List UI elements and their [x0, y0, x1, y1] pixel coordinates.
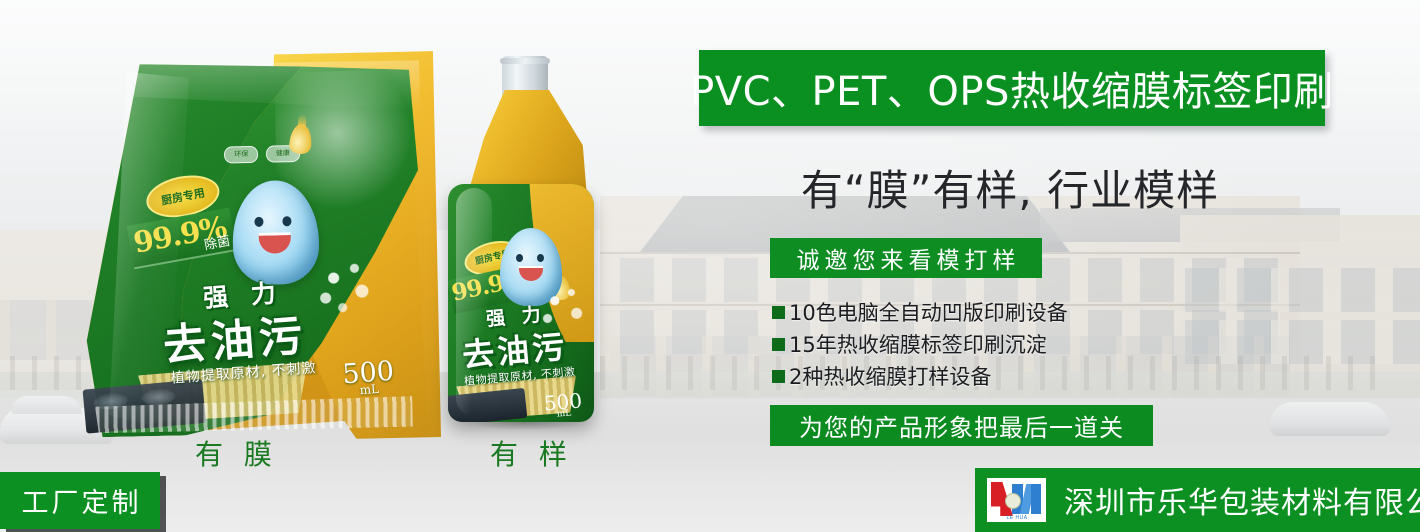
list-item-label: 15年热收缩膜标签印刷沉淀: [789, 329, 1047, 359]
company-footer-bar: LE HUA 深圳市乐华包装材料有限公司: [975, 468, 1420, 532]
mascot-eye-left: [516, 254, 523, 262]
bottle-volume: 500 mL: [543, 388, 584, 420]
square-bullet-icon: [772, 306, 785, 319]
list-item: 15年热收缩膜标签印刷沉淀: [772, 329, 1192, 359]
bottle-body: 厨房专用 99.9% 除菌 强 力 去油污 植物提取原材, 不刺激 500 mL: [448, 184, 594, 422]
mascot-mouth: [259, 232, 291, 254]
mascot-eye-right: [283, 216, 292, 226]
product-bottle: 厨房专用 99.9% 除菌 强 力 去油污 植物提取原材, 不刺激 500 mL: [440, 56, 600, 424]
pouch-tag-eco: 环保: [224, 146, 258, 164]
invite-banner-text: 诚邀您来看模打样: [792, 241, 1021, 275]
caption-bottle: 有 样: [490, 433, 573, 473]
company-name: 深圳市乐华包装材料有限公司: [1064, 478, 1420, 522]
list-item-label: 10色电脑全自动凹版印刷设备: [789, 297, 1068, 327]
bottle-gloss-highlight: [456, 188, 492, 416]
top-green-banner: PVC、PET、OPS热收缩膜标签印刷: [699, 50, 1325, 126]
mascot-eye-left: [255, 217, 264, 227]
factory-custom-badge: 工厂定制: [0, 472, 160, 529]
closing-banner-text: 为您的产品形象把最后一道关: [799, 408, 1124, 443]
list-item-label: 2种热收缩膜打样设备: [789, 361, 991, 391]
company-logo-icon: LE HUA: [987, 478, 1046, 522]
caption-pouch: 有 膜: [195, 433, 278, 473]
square-bullet-icon: [772, 338, 785, 351]
mascot-mouth: [519, 266, 543, 281]
banner-stage: 环保 健康 厨房专用 99.9% 除菌 强 力 去油污 植物提取原材, 不刺激 …: [0, 0, 1420, 532]
pouch-percent-label: 除菌: [202, 230, 231, 253]
list-item: 10色电脑全自动凹版印刷设备: [772, 297, 1192, 327]
square-bullet-icon: [772, 370, 785, 383]
mascot-eye-right: [537, 254, 544, 262]
logo-circle-shape: [1005, 493, 1021, 509]
logo-blue-shape-3: [1031, 484, 1041, 514]
page-headline: 有“膜”有样, 行业模样: [700, 158, 1320, 216]
list-item: 2种热收缩膜打样设备: [772, 361, 1192, 391]
top-banner-title: PVC、PET、OPS热收缩膜标签印刷: [690, 59, 1334, 117]
closing-banner: 为您的产品形象把最后一道关: [770, 405, 1153, 446]
pouch-volume: 500 mL: [342, 355, 396, 398]
product-pouch: 环保 健康 厨房专用 99.9% 除菌 强 力 去油污 植物提取原材, 不刺激 …: [74, 58, 427, 437]
invite-banner: 诚邀您来看模打样: [770, 238, 1042, 278]
factory-custom-badge-label: 工厂定制: [19, 481, 142, 520]
feature-bullet-list: 10色电脑全自动凹版印刷设备 15年热收缩膜标签印刷沉淀 2种热收缩膜打样设备: [772, 297, 1192, 393]
logo-wordmark: LE HUA: [997, 515, 1037, 521]
